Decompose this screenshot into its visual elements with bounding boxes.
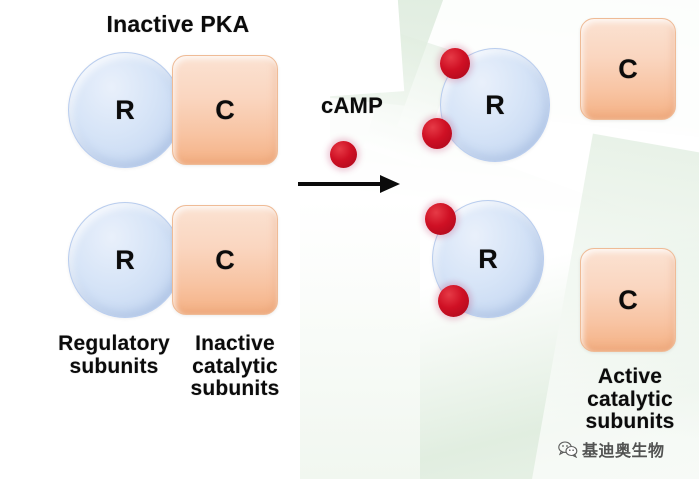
diagram-canvas: Inactive PKA R C R C Regulatory subunits… [0,0,699,479]
catalytic-subunit-bottom-left: C [172,205,278,315]
subunit-glyph-c: C [173,206,277,314]
label-active-catalytic-subunits: Active catalytic subunits [565,366,695,434]
subunit-glyph-r: R [69,53,181,167]
camp-molecule-icon [440,48,470,79]
title-inactive-pka: Inactive PKA [58,12,298,37]
camp-molecule-icon [425,203,456,235]
camp-molecule-icon [330,141,357,168]
regulatory-subunit-top-left: R [68,52,182,168]
subunit-glyph-c: C [581,249,675,351]
watermark-text: 基迪奥生物 [582,437,665,461]
label-inactive-catalytic-subunits: Inactive catalytic subunits [170,333,300,401]
catalytic-subunit-top-left: C [172,55,278,165]
wechat-logo-icon [558,441,578,458]
camp-molecule-icon [438,285,469,317]
camp-molecule-icon [422,118,452,149]
activation-arrow-icon [296,172,400,196]
background-shape-white-4 [300,200,420,479]
label-camp: cAMP [300,94,404,118]
active-catalytic-subunit-top: C [580,18,676,120]
subunit-glyph-c: C [173,56,277,164]
regulatory-subunit-bottom-left: R [68,202,182,318]
subunit-glyph-c: C [581,19,675,119]
subunit-glyph-r: R [69,203,181,317]
active-catalytic-subunit-bottom: C [580,248,676,352]
watermark: 基迪奥生物 [558,437,665,461]
